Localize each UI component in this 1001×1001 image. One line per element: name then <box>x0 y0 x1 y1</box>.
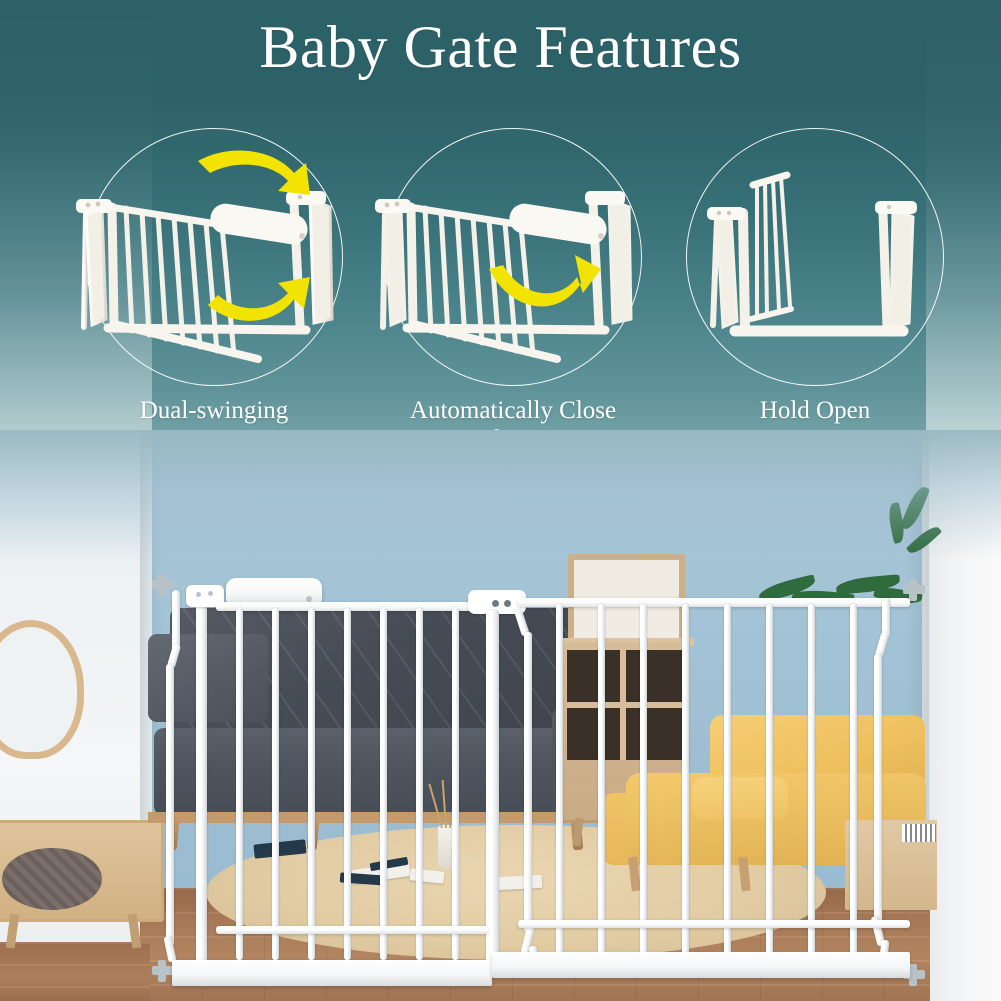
page-title: Baby Gate Features <box>0 10 1001 84</box>
auto-close-arrow <box>489 255 601 306</box>
caption-line-1: Dual-swinging <box>54 396 374 425</box>
feature-circle-outline <box>384 128 642 386</box>
feature-circle-outline <box>85 128 343 386</box>
swing-arrow-top <box>198 151 310 195</box>
gate-dual-swing-icon <box>62 147 367 377</box>
gate-hold-open-icon <box>687 153 943 368</box>
gate-auto-close-icon <box>361 147 666 377</box>
product-feature-image: Baby Gate Features <box>0 0 1001 1001</box>
feature-card-hold-open: Hold Open <box>685 128 945 386</box>
gate-base-right <box>492 952 910 978</box>
swing-arrow-bottom <box>208 277 310 321</box>
feature-circle-outline <box>686 128 944 386</box>
feature-card-dual-swinging-doors: Dual-swinging Doors <box>84 128 344 386</box>
caption-line-1: Hold Open <box>655 396 975 425</box>
gate-base-left <box>172 960 492 986</box>
caption-line-1: Automatically Close <box>353 396 673 425</box>
feature-caption: Hold Open <box>655 396 975 425</box>
installed-baby-gate <box>0 430 1001 1001</box>
feature-card-automatically-close: Automatically Close Within 90° <box>383 128 643 386</box>
